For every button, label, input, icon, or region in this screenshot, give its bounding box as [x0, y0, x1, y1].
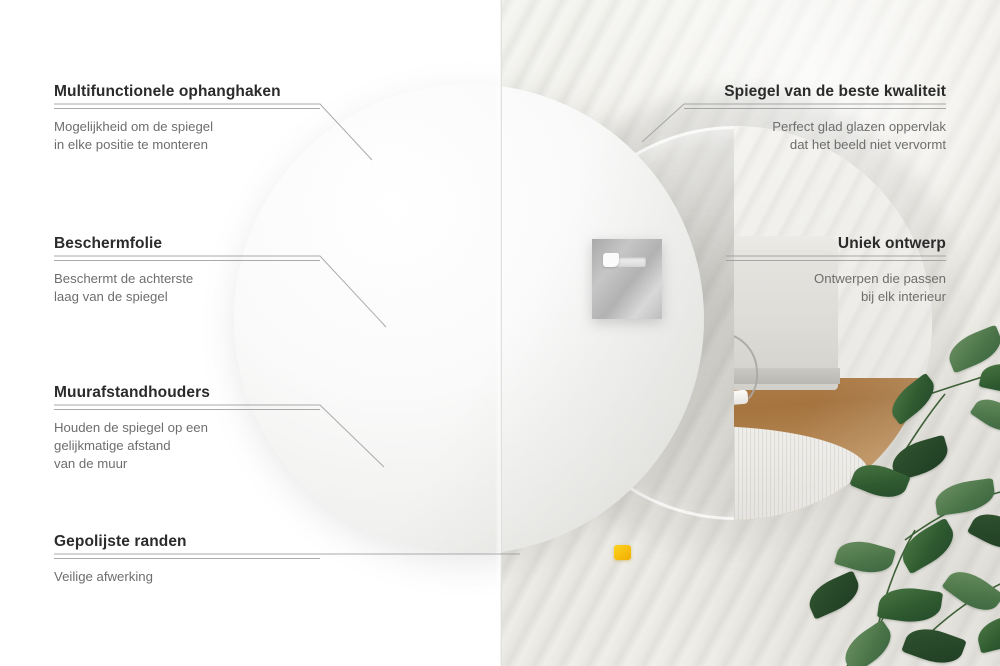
callout-title: Beschermfolie: [54, 235, 320, 253]
eucalyptus-plant: [795, 330, 1000, 666]
callout-uniek-ontwerp: Uniek ontwerp Ontwerpen die passen bij e…: [726, 235, 946, 306]
callout-description: Mogelijkheid om de spiegel in elke posit…: [54, 118, 320, 154]
callout-rule: [684, 108, 946, 109]
wall-spacer-marker: [614, 545, 631, 560]
callout-description: Beschermt de achterste laag van de spieg…: [54, 270, 320, 306]
callout-muurafstandhouders: Muurafstandhouders Houden de spiegel op …: [54, 384, 320, 473]
mirror-assembly: [234, 84, 750, 562]
callout-gepolijste-randen: Gepolijste randen Veilige afwerking: [54, 533, 320, 586]
callout-description: Perfect glad glazen oppervlak dat het be…: [684, 118, 946, 154]
panel-divider: [500, 0, 502, 666]
callout-title: Gepolijste randen: [54, 533, 320, 551]
callout-rule: [54, 260, 320, 261]
callout-title: Multifunctionele ophanghaken: [54, 83, 320, 101]
hook-slot-icon: [606, 257, 646, 267]
callout-rule: [54, 108, 320, 109]
infographic-canvas: Multifunctionele ophanghaken Mogelijkhei…: [0, 0, 1000, 666]
hanging-hook-plate: [592, 239, 662, 319]
callout-title: Muurafstandhouders: [54, 384, 320, 402]
callout-beschermfolie: Beschermfolie Beschermt de achterste laa…: [54, 235, 320, 306]
callout-description: Houden de spiegel op een gelijkmatige af…: [54, 419, 320, 473]
callout-rule: [726, 260, 946, 261]
callout-rule: [54, 558, 320, 559]
callout-beste-kwaliteit: Spiegel van de beste kwaliteit Perfect g…: [684, 83, 946, 154]
callout-description: Veilige afwerking: [54, 568, 320, 586]
callout-description: Ontwerpen die passen bij elk interieur: [726, 270, 946, 306]
callout-title: Spiegel van de beste kwaliteit: [684, 83, 946, 101]
callout-title: Uniek ontwerp: [726, 235, 946, 253]
callout-rule: [54, 409, 320, 410]
callout-ophanghaken: Multifunctionele ophanghaken Mogelijkhei…: [54, 83, 320, 154]
